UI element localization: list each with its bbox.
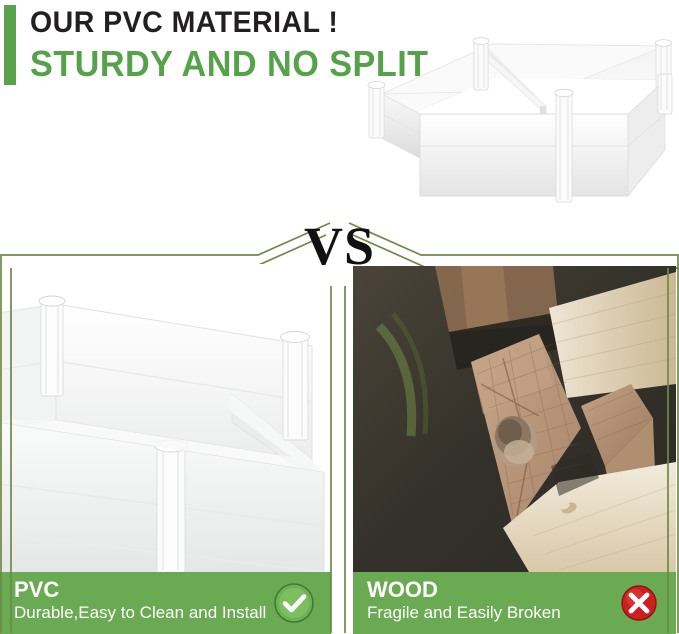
pvc-media <box>0 264 331 572</box>
accent-bar <box>4 5 16 85</box>
cracked-wood-joint-illustration <box>353 266 676 572</box>
hero-product-image <box>360 18 679 213</box>
wood-caption-bar: WOOD Fragile and Easily Broken <box>353 572 676 634</box>
wood-joint-photo <box>353 266 676 572</box>
pvc-caption-bar: PVC Durable,Easy to Clean and Install <box>0 572 331 634</box>
pvc-caption-subtitle: Durable,Easy to Clean and Install <box>14 604 266 623</box>
wood-media <box>345 264 676 572</box>
wood-caption-subtitle: Fragile and Easily Broken <box>367 604 561 623</box>
pvc-caption-title: PVC <box>14 578 59 602</box>
pvc-garden-bed-illustration <box>360 18 679 213</box>
check-circle-icon <box>273 582 315 624</box>
comparison-panel-wood: WOOD Fragile and Easily Broken <box>345 258 676 634</box>
wood-caption-title: WOOD <box>367 578 438 602</box>
vs-label: VS <box>0 219 679 273</box>
comparison-panel-pvc: PVC Durable,Easy to Clean and Install <box>0 258 331 634</box>
x-circle-icon <box>618 582 660 624</box>
page-title-primary: OUR PVC MATERIAL ! <box>30 6 338 40</box>
pvc-closeup-illustration <box>0 264 331 572</box>
